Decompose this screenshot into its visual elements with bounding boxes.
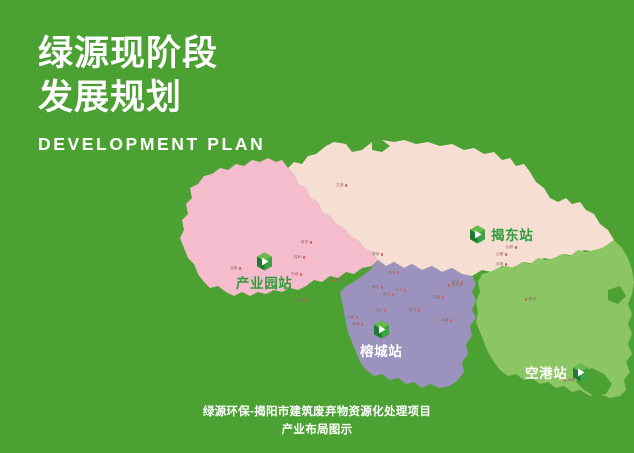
place-label: 梅云 [383,292,394,297]
place-dot [505,253,507,255]
place-dot [515,246,517,248]
place-dot [392,293,394,295]
title-line-1: 绿源现阶段 [38,32,265,76]
place-label: 玉窖 [347,315,358,320]
place-dot [303,256,305,258]
station-label: 产业园站 [236,272,292,292]
station-jiedong[interactable]: 揭东站 [469,224,533,244]
place-label: 凤山 [388,270,399,275]
place-dot [305,299,307,301]
place-label: 仙桥 [506,245,517,250]
place-label: 新亨 [301,240,312,245]
place-label: 新兴 [409,308,420,313]
place-dot [525,298,527,300]
station-konggang[interactable]: 空港站 [525,362,589,382]
station-chanyeyuan[interactable]: 产业园站 [236,252,292,292]
place-label: 玉湖 [336,183,347,188]
title-block: 绿源现阶段 发展规划 DEVELOPMENT PLAN [38,32,265,155]
station-label: 揭东站 [491,224,533,244]
place-label: 凤美 [496,262,507,267]
place-dot [345,184,347,186]
place-dot [505,263,507,265]
place-label: 溪南 [441,318,452,323]
place-label: 云路 [496,252,507,257]
place-label: 桂岭 [294,255,305,260]
place-label: 磐东 [372,285,383,290]
poster-root: 绿源现阶段 发展规划 DEVELOPMENT PLAN 玉湖 新亨 锡场 龙尾 … [0,0,634,453]
location-play-marker-icon [572,363,589,382]
place-label: 白塔 [291,272,302,277]
place-label: 云落 [296,298,307,303]
location-play-marker-icon [373,320,390,339]
place-dot [450,319,452,321]
place-dot [381,253,383,255]
place-dot [356,316,358,318]
caption-line-1: 绿源环保-揭阳市建筑废弃物资源化处理项目 [0,403,634,422]
subtitle-development-plan: DEVELOPMENT PLAN [38,134,265,155]
title-line-2: 发展规划 [38,76,265,120]
place-label: 中山 [375,308,386,313]
place-dot [404,289,406,291]
station-rongcheng[interactable]: 榕城站 [360,320,402,360]
place-label: 登岗 [525,297,536,302]
place-dot [381,286,383,288]
place-dot [448,284,450,286]
caption-block: 绿源环保-揭阳市建筑废弃物资源化处理项目 产业布局图示 [0,403,634,440]
place-label: 月城 [332,278,343,283]
place-label: 揭东县 [448,283,463,288]
location-play-marker-icon [256,252,273,271]
location-play-marker-icon [469,225,486,244]
place-label: 东兴 [395,288,406,293]
place-dot [418,309,420,311]
place-label: 锡场 [372,252,383,257]
place-dot [300,273,302,275]
place-dot [384,309,386,311]
station-label: 榕城站 [360,340,402,360]
map-container[interactable]: 玉湖 新亨 锡场 龙尾 桂岭 白塔 月城 云落 玉窖 炮台 曲溪 云路 凤山 梅… [176,140,634,412]
place-label: 曲溪 [433,295,444,300]
place-dot [397,271,399,273]
place-dot [442,296,444,298]
caption-line-2: 产业布局图示 [0,421,634,440]
place-dot [310,241,312,243]
station-label: 空港站 [525,362,567,382]
place-dot [332,279,334,281]
